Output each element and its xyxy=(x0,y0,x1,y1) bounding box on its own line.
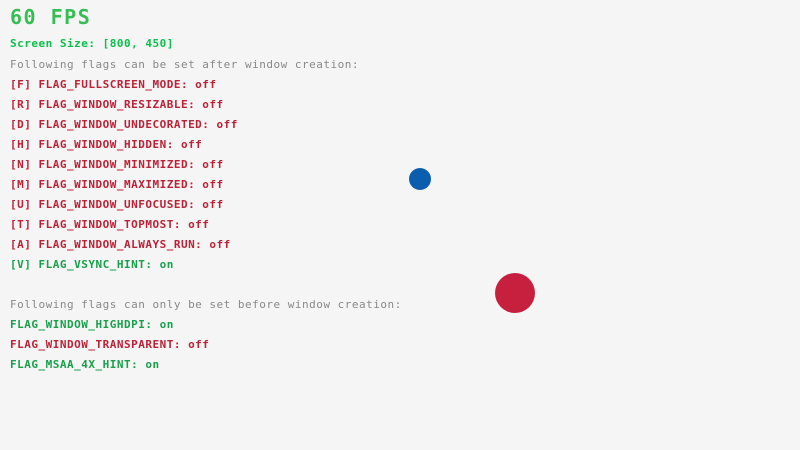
ball-red xyxy=(495,273,535,313)
screen-size-label: Screen Size: [800, 450] xyxy=(10,38,174,49)
flag-row-flag-window-transparent[interactable]: FLAG_WINDOW_TRANSPARENT: off xyxy=(10,339,209,350)
flag-row-flag-msaa-4x-hint[interactable]: FLAG_MSAA_4X_HINT: on xyxy=(10,359,160,370)
section-heading-after-creation: Following flags can be set after window … xyxy=(10,59,359,70)
flag-row-flag-window-minimized[interactable]: [N] FLAG_WINDOW_MINIMIZED: off xyxy=(10,159,224,170)
section-heading-before-creation: Following flags can only be set before w… xyxy=(10,299,402,310)
flag-row-flag-window-resizable[interactable]: [R] FLAG_WINDOW_RESIZABLE: off xyxy=(10,99,224,110)
raylib-window-canvas: 60 FPS Screen Size: [800, 450] Following… xyxy=(0,0,800,450)
flag-row-flag-window-unfocused[interactable]: [U] FLAG_WINDOW_UNFOCUSED: off xyxy=(10,199,224,210)
flag-row-flag-window-hidden[interactable]: [H] FLAG_WINDOW_HIDDEN: off xyxy=(10,139,202,150)
flag-row-flag-vsync-hint[interactable]: [V] FLAG_VSYNC_HINT: on xyxy=(10,259,174,270)
flag-row-flag-window-maximized[interactable]: [M] FLAG_WINDOW_MAXIMIZED: off xyxy=(10,179,224,190)
ball-blue xyxy=(409,168,431,190)
flag-row-flag-fullscreen-mode[interactable]: [F] FLAG_FULLSCREEN_MODE: off xyxy=(10,79,217,90)
fps-counter: 60 FPS xyxy=(10,7,91,27)
flag-row-flag-window-always-run[interactable]: [A] FLAG_WINDOW_ALWAYS_RUN: off xyxy=(10,239,231,250)
flag-row-flag-window-highdpi[interactable]: FLAG_WINDOW_HIGHDPI: on xyxy=(10,319,174,330)
flag-row-flag-window-topmost[interactable]: [T] FLAG_WINDOW_TOPMOST: off xyxy=(10,219,209,230)
flag-row-flag-window-undecorated[interactable]: [D] FLAG_WINDOW_UNDECORATED: off xyxy=(10,119,238,130)
